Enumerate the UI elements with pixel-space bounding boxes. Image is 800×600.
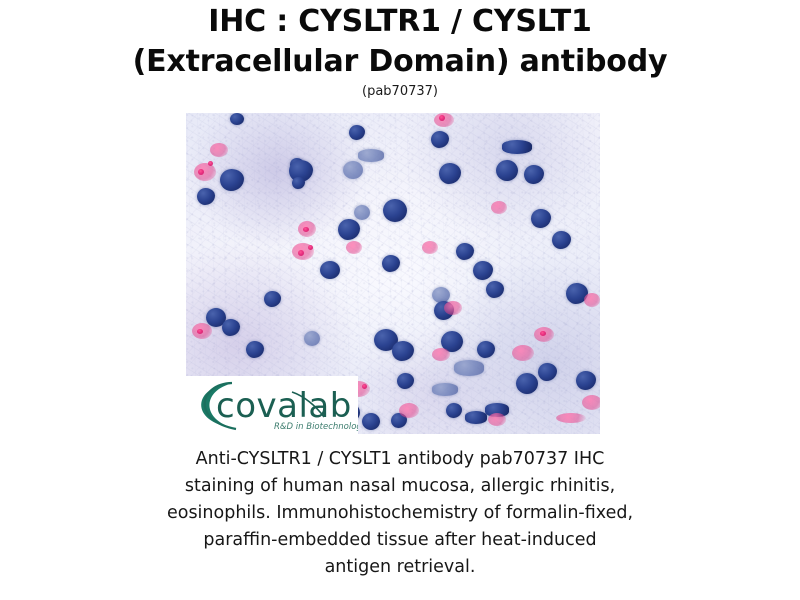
caption-line-2: staining of human nasal mucosa, allergic… <box>0 473 800 500</box>
nucleus <box>358 149 384 162</box>
nucleus <box>465 411 487 424</box>
nucleus <box>454 360 484 376</box>
chromogen-granule <box>346 241 362 254</box>
chromogen-granule <box>584 293 600 307</box>
title-block: IHC : CYSLTR1 / CYSLT1 (Extracellular Do… <box>0 2 800 100</box>
nucleus <box>343 161 363 179</box>
covalab-tagline: R&D in Biotechnology <box>274 422 358 432</box>
caption-line-5: antigen retrieval. <box>0 554 800 581</box>
nucleus <box>502 140 532 154</box>
covalab-logo: covalab R&D in Biotechnology <box>186 376 358 434</box>
nucleus <box>432 383 458 396</box>
chromogen-granule <box>303 227 309 232</box>
page-title-line-1: IHC : CYSLTR1 / CYSLT1 <box>0 2 800 42</box>
chromogen-granule <box>556 413 586 423</box>
chromogen-granule <box>362 384 367 389</box>
ihc-micrograph: covalab R&D in Biotechnology <box>186 113 600 434</box>
chromogen-granule <box>399 403 419 418</box>
caption-line-3: eosinophils. Immunohistochemistry of for… <box>0 500 800 527</box>
chromogen-granule <box>491 201 507 214</box>
chromogen-granule <box>444 301 462 315</box>
chromogen-granule <box>198 169 204 175</box>
nucleus <box>383 199 407 222</box>
chromogen-granule <box>197 329 203 334</box>
caption-line-1: Anti-CYSLTR1 / CYSLT1 antibody pab70737 … <box>0 446 800 473</box>
page-title-line-2: (Extracellular Domain) antibody <box>0 42 800 82</box>
chromogen-granule <box>488 413 506 426</box>
chromogen-granule <box>210 143 228 157</box>
chromogen-granule <box>308 245 313 250</box>
chromogen-granule <box>439 115 445 121</box>
catalog-number: (pab70737) <box>0 84 800 100</box>
covalab-wordmark: covalab <box>216 386 352 426</box>
micrograph-canvas: covalab R&D in Biotechnology <box>186 113 600 434</box>
chromogen-granule <box>540 331 546 336</box>
nucleus <box>230 113 244 125</box>
nucleus <box>516 373 538 394</box>
chromogen-granule <box>422 241 438 254</box>
chromogen-granule <box>582 395 600 410</box>
product-image-page: IHC : CYSLTR1 / CYSLT1 (Extracellular Do… <box>0 0 800 600</box>
chromogen-granule <box>432 348 450 361</box>
chromogen-granule <box>512 345 534 361</box>
figure-caption: Anti-CYSLTR1 / CYSLT1 antibody pab70737 … <box>0 446 800 581</box>
nucleus <box>304 331 320 346</box>
chromogen-granule <box>208 161 213 166</box>
caption-line-4: paraffin-embedded tissue after heat-indu… <box>0 527 800 554</box>
nucleus <box>496 160 518 181</box>
nucleus <box>320 261 340 279</box>
nucleus <box>362 413 380 430</box>
covalab-logo-mark: covalab R&D in Biotechnology <box>186 376 358 434</box>
nucleus <box>354 205 370 220</box>
chromogen-granule <box>298 250 304 256</box>
